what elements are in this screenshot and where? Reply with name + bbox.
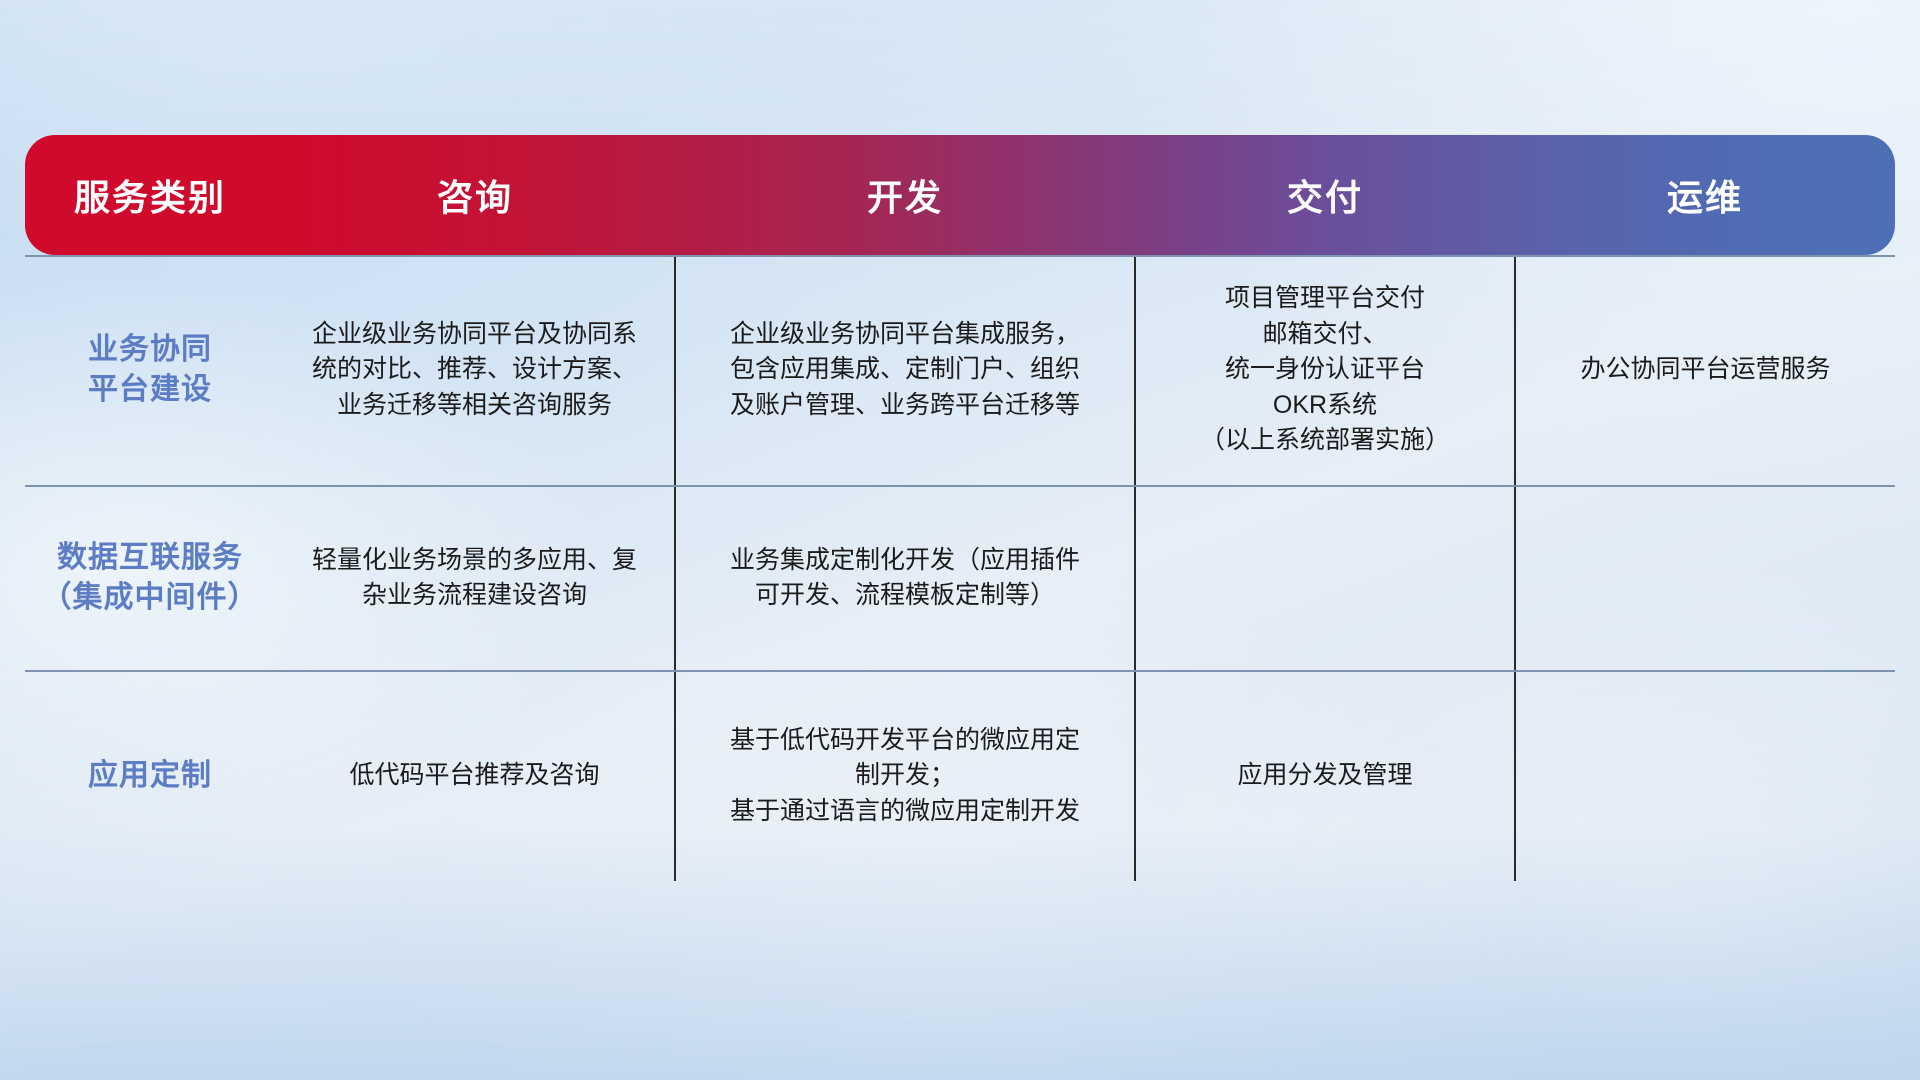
cell-line: 可开发、流程模板定制等）	[698, 578, 1112, 614]
row-label-app-customization: 应用定制	[25, 671, 275, 881]
cell-line: 杂业务流程建设咨询	[297, 578, 652, 614]
cell-operations-row3	[1515, 671, 1895, 881]
column-header-operations: 运维	[1515, 135, 1895, 255]
row-label-data-interconnect: 数据互联服务 （集成中间件）	[25, 486, 275, 671]
cell-consulting-row3: 低代码平台推荐及咨询	[275, 671, 675, 881]
cell-line: 业务迁移等相关咨询服务	[297, 388, 652, 424]
cell-line: 办公协同平台运营服务	[1538, 352, 1873, 388]
column-header-consulting: 咨询	[275, 135, 675, 255]
cell-line: 基于通过语言的微应用定制开发	[698, 794, 1112, 830]
row-label-line: （集成中间件）	[35, 578, 265, 618]
cell-delivery-row2	[1135, 486, 1515, 671]
table-header: 服务类别 咨询 开发 交付 运维	[25, 135, 1895, 255]
column-header-development: 开发	[675, 135, 1135, 255]
cell-line: 邮箱交付、	[1158, 317, 1492, 353]
cell-operations-row1: 办公协同平台运营服务	[1515, 255, 1895, 486]
cell-line: 统的对比、推荐、设计方案、	[297, 352, 652, 388]
cell-line: 企业级业务协同平台集成服务，	[698, 317, 1112, 353]
cell-line: 轻量化业务场景的多应用、复	[297, 543, 652, 579]
row-label-business-collaboration: 业务协同 平台建设	[25, 255, 275, 486]
cell-line: 及账户管理、业务跨平台迁移等	[698, 388, 1112, 424]
cell-delivery-row3: 应用分发及管理	[1135, 671, 1515, 881]
table-body: 业务协同 平台建设 企业级业务协同平台及协同系 统的对比、推荐、设计方案、 业务…	[25, 255, 1895, 881]
cell-line: 项目管理平台交付	[1158, 281, 1492, 317]
cell-line: （以上系统部署实施）	[1158, 423, 1492, 459]
service-table: 服务类别 咨询 开发 交付 运维 业务协同 平台建设 企业级业务协同平台及	[25, 135, 1895, 881]
cell-line: 业务集成定制化开发（应用插件	[698, 543, 1112, 579]
cell-operations-row2	[1515, 486, 1895, 671]
service-matrix: 服务类别 咨询 开发 交付 运维 业务协同 平台建设 企业级业务协同平台及	[25, 135, 1895, 881]
table-header-row: 服务类别 咨询 开发 交付 运维	[25, 135, 1895, 255]
column-header-category: 服务类别	[25, 135, 275, 255]
cell-delivery-row1: 项目管理平台交付 邮箱交付、 统一身份认证平台 OKR系统 （以上系统部署实施）	[1135, 255, 1515, 486]
table-row: 应用定制 低代码平台推荐及咨询 基于低代码开发平台的微应用定 制开发； 基于通过…	[25, 671, 1895, 881]
cell-consulting-row1: 企业级业务协同平台及协同系 统的对比、推荐、设计方案、 业务迁移等相关咨询服务	[275, 255, 675, 486]
row-label-line: 平台建设	[35, 370, 265, 410]
cell-line: OKR系统	[1158, 388, 1492, 424]
row-label-line: 应用定制	[35, 756, 265, 796]
cell-development-row2: 业务集成定制化开发（应用插件 可开发、流程模板定制等）	[675, 486, 1135, 671]
cell-line: 低代码平台推荐及咨询	[297, 758, 652, 794]
table-row: 业务协同 平台建设 企业级业务协同平台及协同系 统的对比、推荐、设计方案、 业务…	[25, 255, 1895, 486]
header-body-divider	[25, 255, 1895, 257]
cell-development-row1: 企业级业务协同平台集成服务， 包含应用集成、定制门户、组织 及账户管理、业务跨平…	[675, 255, 1135, 486]
cell-line: 企业级业务协同平台及协同系	[297, 317, 652, 353]
row-label-line: 业务协同	[35, 330, 265, 370]
cell-line: 统一身份认证平台	[1158, 352, 1492, 388]
cell-line: 包含应用集成、定制门户、组织	[698, 352, 1112, 388]
cell-line: 应用分发及管理	[1158, 758, 1492, 794]
table-row: 数据互联服务 （集成中间件） 轻量化业务场景的多应用、复 杂业务流程建设咨询 业…	[25, 486, 1895, 671]
row-label-line: 数据互联服务	[35, 538, 265, 578]
cell-development-row3: 基于低代码开发平台的微应用定 制开发； 基于通过语言的微应用定制开发	[675, 671, 1135, 881]
cell-consulting-row2: 轻量化业务场景的多应用、复 杂业务流程建设咨询	[275, 486, 675, 671]
column-header-delivery: 交付	[1135, 135, 1515, 255]
cell-line: 制开发；	[698, 758, 1112, 794]
cell-line: 基于低代码开发平台的微应用定	[698, 723, 1112, 759]
